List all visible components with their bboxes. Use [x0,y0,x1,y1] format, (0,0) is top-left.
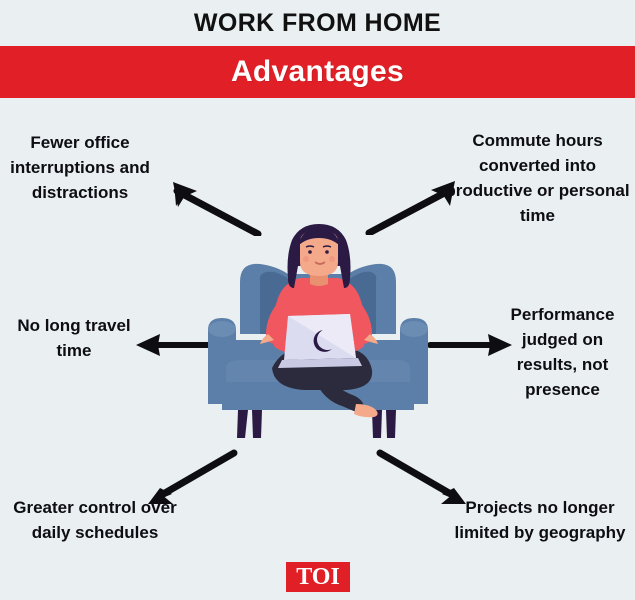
toi-logo: TOI [286,562,350,592]
callout-top-left: Fewer office interruptions and distracti… [0,131,160,206]
infographic-page: WORK FROM HOME Advantages Fewer office i… [0,0,635,600]
callout-middle-left: No long travel time [0,314,148,364]
eye-right [325,250,329,254]
eye-left [308,250,312,254]
page-title: WORK FROM HOME [0,0,635,46]
toi-logo-text: TOI [296,565,340,589]
section-banner: Advantages [0,46,635,98]
illustration-woman-on-sofa [196,222,442,458]
callout-top-right: Commute hours converted into productive … [440,129,635,229]
banner-label: Advantages [231,55,404,89]
